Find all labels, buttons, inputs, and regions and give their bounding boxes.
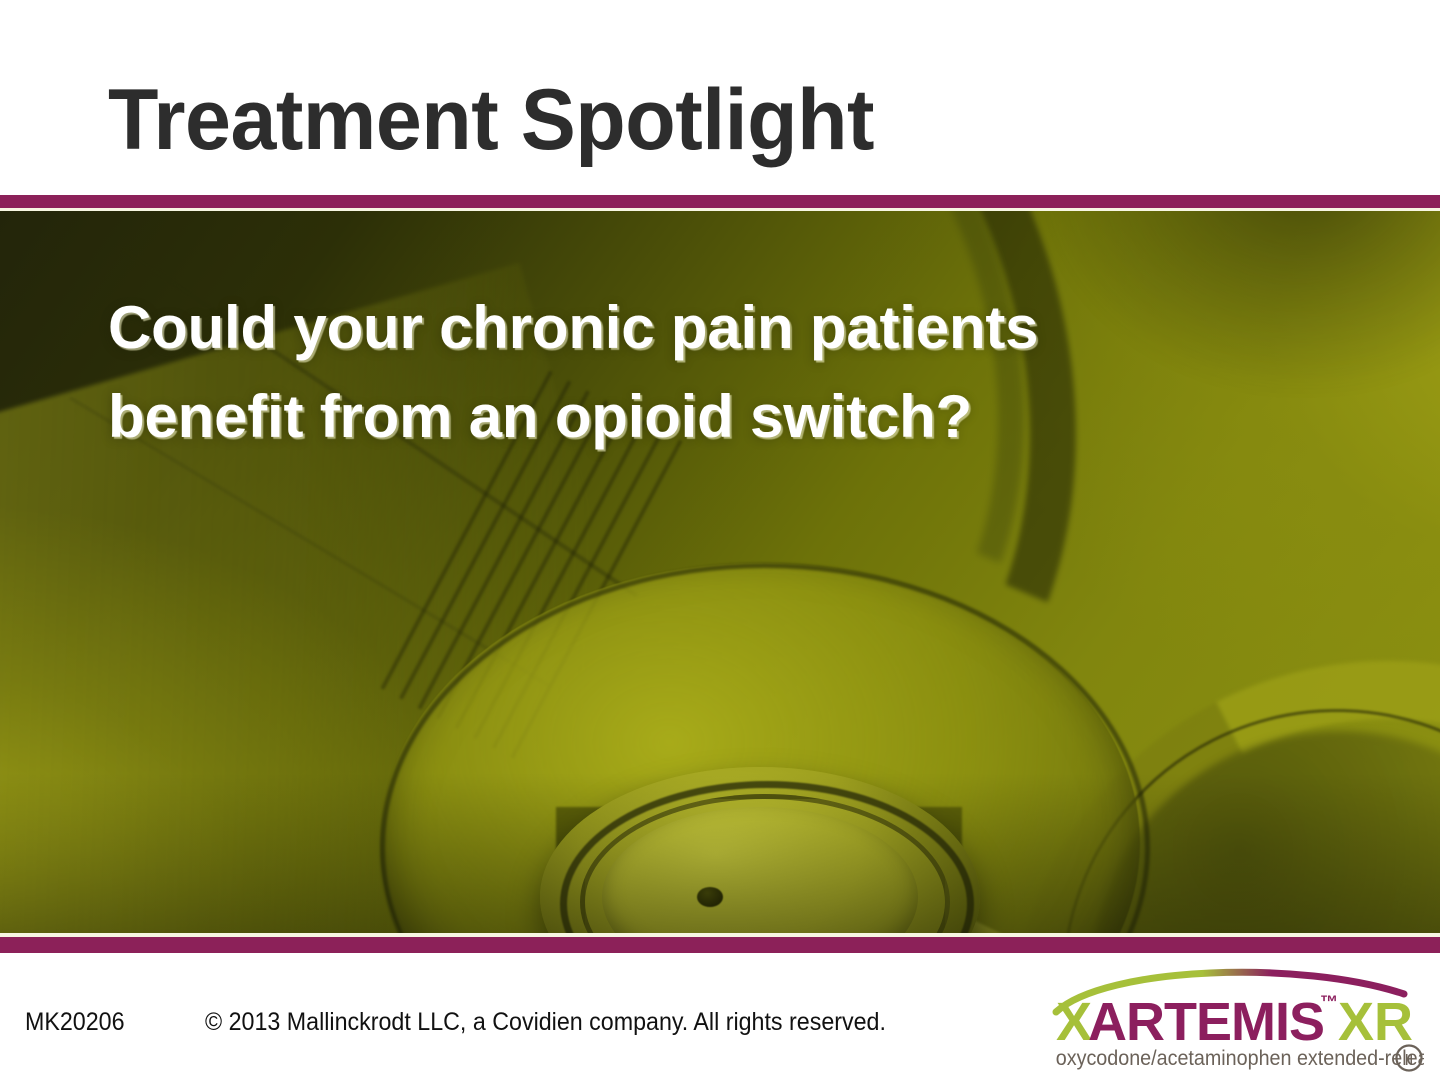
schedule-cii-label: II xyxy=(1405,1052,1414,1069)
logo-trademark-symbol: ™ xyxy=(1320,992,1338,1012)
logo-brand-x: X xyxy=(1056,992,1092,1052)
slide-canvas: Treatment Spotlight xyxy=(0,0,1440,1080)
hero-image-region: Could your chronic pain patients benefit… xyxy=(0,211,1440,933)
hero-headline-line-2: benefit from an opioid switch? xyxy=(108,372,1288,461)
footer-material-code: MK20206 xyxy=(25,1008,125,1037)
divider-purple-top xyxy=(0,195,1440,208)
logo-brand-artemis: ARTEMIS xyxy=(1088,992,1324,1052)
footer-copyright: © 2013 Mallinckrodt LLC, a Covidien comp… xyxy=(205,1008,886,1037)
logo-brand-xr: XR xyxy=(1338,992,1413,1052)
logo-svg: X ARTEMIS ™ XR oxycodone/acetaminophen e… xyxy=(1052,968,1424,1072)
hero-headline: Could your chronic pain patients benefit… xyxy=(108,283,1288,461)
slide-header: Treatment Spotlight xyxy=(0,0,1440,195)
divider-purple-bottom xyxy=(0,937,1440,953)
photo-bottom-vignette xyxy=(0,773,1440,933)
logo-tagline: oxycodone/acetaminophen extended-release xyxy=(1056,1047,1424,1070)
page-title: Treatment Spotlight xyxy=(108,74,874,166)
hero-headline-line-1: Could your chronic pain patients xyxy=(108,283,1288,372)
xartemis-xr-logo: X ARTEMIS ™ XR oxycodone/acetaminophen e… xyxy=(1052,968,1424,1072)
